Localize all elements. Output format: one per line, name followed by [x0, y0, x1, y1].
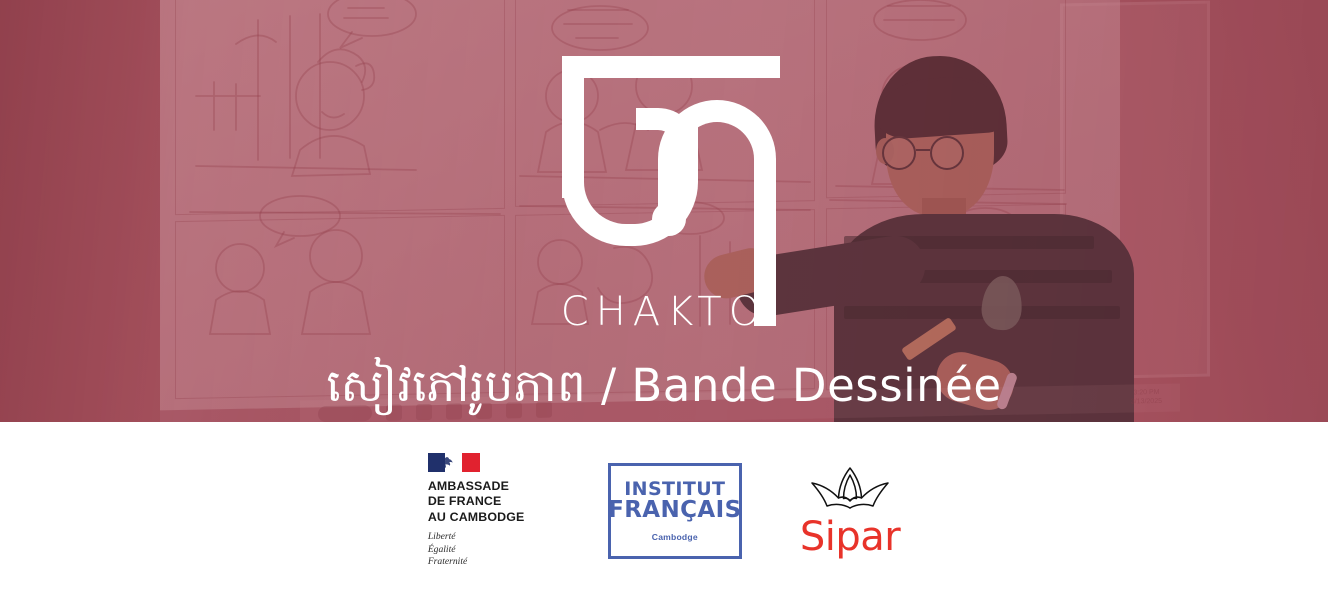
- chakto-logo-glyph: [548, 56, 780, 278]
- institut-francais-line2: FRANÇAIS: [608, 499, 741, 521]
- open-book-lotus-icon: [807, 465, 893, 515]
- logo-top-bar: [562, 56, 780, 78]
- sipar-wordmark: Sipar: [800, 517, 900, 557]
- institut-francais-line1: INSTITUT: [624, 480, 725, 498]
- logo-right-arch-terminal: [652, 202, 686, 236]
- chakto-wordmark: CHAKTO: [561, 292, 767, 332]
- french-republic-motto: Liberté Égalité Fraternité: [428, 531, 550, 569]
- page-root: 3:20 PM 3/13/2025 CHAKTO សៀវភៅរូបភាព / B…: [0, 0, 1328, 600]
- logo-descender-tail: [754, 196, 776, 326]
- flag-band-red: [462, 453, 479, 472]
- ambassade-name: AMBASSADE DE FRANCE AU CAMBODGE: [428, 479, 550, 525]
- hero-subtitle: សៀវភៅរូបភាព / Bande Dessinée: [326, 362, 1001, 411]
- marianne-silhouette-icon: [439, 456, 455, 469]
- hero-banner: 3:20 PM 3/13/2025 CHAKTO សៀវភៅរូបភាព / B…: [0, 0, 1328, 422]
- partner-logo-sipar[interactable]: Sipar: [800, 465, 900, 557]
- institut-francais-location: Cambodge: [652, 532, 698, 542]
- hero-content: CHAKTO សៀវភៅរូបភាព / Bande Dessinée: [0, 0, 1328, 422]
- partner-logo-ambassade-de-france[interactable]: AMBASSADE DE FRANCE AU CAMBODGE Liberté …: [428, 453, 550, 569]
- partner-logo-strip: AMBASSADE DE FRANCE AU CAMBODGE Liberté …: [0, 422, 1328, 600]
- french-flag-icon: [428, 453, 480, 472]
- partner-logo-institut-francais[interactable]: INSTITUT FRANÇAIS Cambodge: [608, 463, 742, 559]
